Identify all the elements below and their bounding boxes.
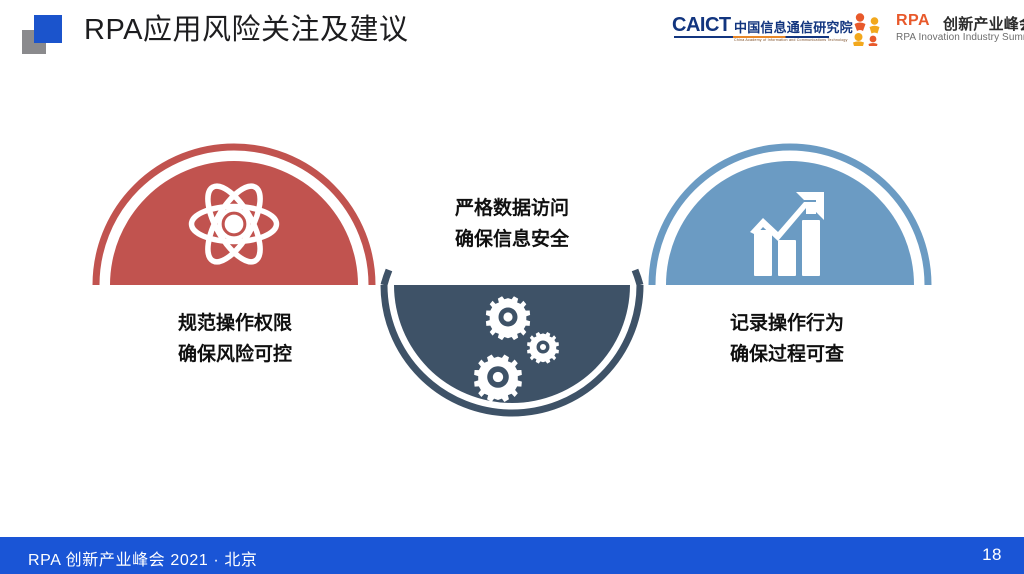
middle-caption-line2: 确保信息安全: [385, 224, 639, 255]
wave-diagram: 规范操作权限 确保风险可控 严格数据访问 确保信息安全 记录操作行为 确保过程可…: [0, 90, 1024, 470]
page-number: 18: [982, 545, 1002, 565]
right-caption-line2: 确保过程可查: [648, 339, 926, 370]
page-title: RPA应用风险关注及建议: [84, 8, 408, 52]
middle-caption-line1: 严格数据访问: [385, 193, 639, 224]
slide-header: RPA应用风险关注及建议 CAICT 中国信息通信研究院 China Acade…: [0, 0, 1024, 62]
rpa-chinese-name: 创新产业峰会: [943, 13, 1024, 34]
caict-english-name: China Academy of Information and Communi…: [734, 38, 848, 42]
rpa-summit-logo: RPA 创新产业峰会 RPA Inovation Industry Summit: [850, 10, 1018, 50]
left-caption-line1: 规范操作权限: [96, 308, 374, 339]
middle-segment-caption: 严格数据访问 确保信息安全: [385, 193, 639, 255]
caict-wordmark: CAICT: [672, 14, 731, 37]
rpa-people-emblem-icon: [850, 12, 888, 46]
wave-diagram-svg: [0, 90, 1024, 470]
right-caption-line1: 记录操作行为: [648, 308, 926, 339]
slide-footer: RPA 创新产业峰会 2021 · 北京 18: [0, 537, 1024, 574]
rpa-wordmark: RPA: [896, 12, 930, 30]
left-caption-line2: 确保风险可控: [96, 339, 374, 370]
footer-event-label: RPA 创新产业峰会 2021 · 北京: [28, 546, 258, 570]
blue-square-icon: [34, 15, 62, 43]
rpa-english-name: RPA Inovation Industry Summit: [896, 32, 1024, 43]
middle-arc-left-stub: [384, 270, 389, 285]
left-segment-caption: 规范操作权限 确保风险可控: [96, 308, 374, 370]
middle-arc-right-stub: [635, 270, 640, 285]
right-segment-caption: 记录操作行为 确保过程可查: [648, 308, 926, 370]
brand-logo-mark: [22, 12, 64, 54]
caict-logo: CAICT 中国信息通信研究院 China Academy of Informa…: [672, 13, 832, 47]
caict-chinese-name: 中国信息通信研究院: [734, 17, 853, 36]
